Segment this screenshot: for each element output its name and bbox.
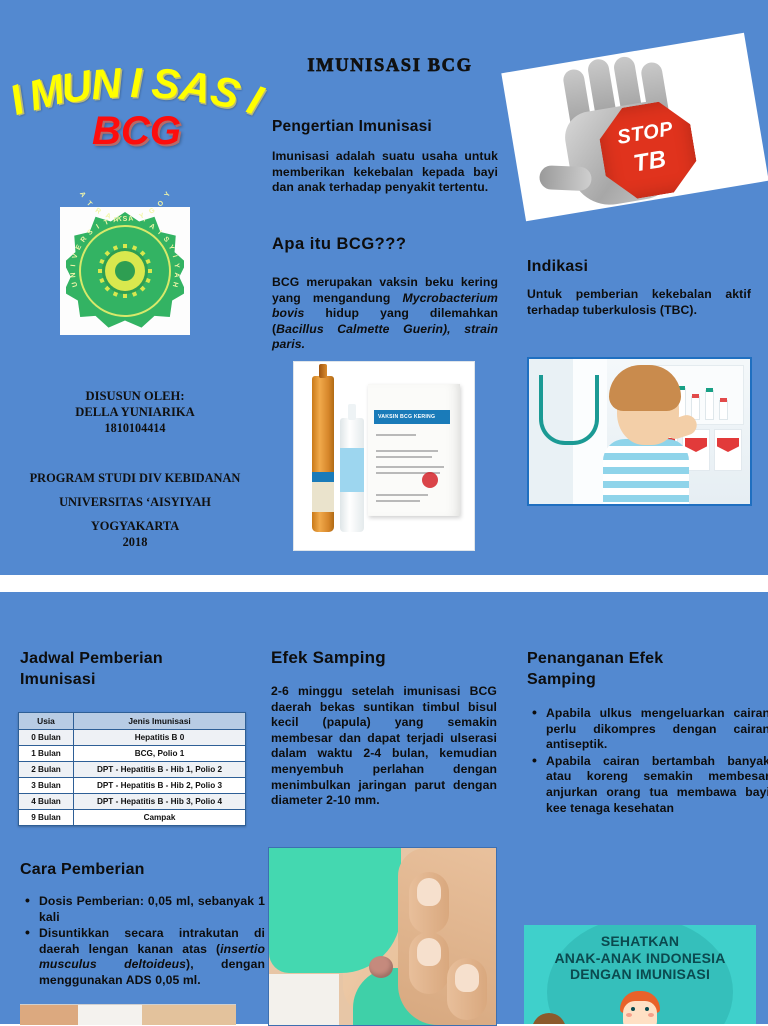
apa-itu-bcg-title: Apa itu BCG??? [272,235,512,254]
institution-line-1: PROGRAM STUDI DIV KEBIDANAN [20,470,250,486]
stethoscope-icon [539,375,599,445]
vaccine-ampoule [312,376,334,532]
table-cell: 1 Bulan [19,746,74,762]
poster-line-3: DENGAN IMUNISASI [524,966,756,983]
table-body: 0 BulanHepatitis B 01 BulanBCG, Polio 12… [19,730,246,826]
indikasi-title: Indikasi [527,257,757,276]
title-letter: I [130,62,142,104]
cover-subtitle-bcg: BCG [14,108,259,154]
penanganan-title-line2: Samping [527,669,757,690]
jadwal-heading-line1: Jadwal Pemberian [20,648,250,669]
penanganan-title-line1: Penanganan Efek [527,648,757,669]
bcg-papule-photo [268,847,497,1026]
table-header-row: UsiaJenis Imunisasi [19,713,246,730]
vaccine-box-label-text: VAKSIN BCG KERING [374,410,450,420]
author-line-1: DISUSUN OLEH: [20,388,250,404]
vaccine-box-label: VAKSIN BCG KERING [374,410,450,424]
partial-bottom-photo [20,1004,236,1025]
author-line-2: DELLA YUNIARIKA [20,404,250,420]
penanganan-bullet-1: Apabila ulkus mengeluarkan cairan perlu … [546,706,768,753]
sehatkan-anak-poster: SEHATKAN ANAK-ANAK INDONESIA DENGAN IMUN… [524,925,756,1024]
poster-child-icon [617,991,663,1024]
doctor-examining-child-photo [527,357,752,506]
poster-line-2: ANAK-ANAK INDONESIA [524,950,756,967]
cara-pemberian-title: Cara Pemberian [20,860,250,879]
table-row: 1 BulanBCG, Polio 1 [19,746,246,762]
cara-pemberian-list: Dosis Pemberian: 0,05 ml, sebanyak 1 kal… [22,894,265,990]
cara-bullet-1: Dosis Pemberian: 0,05 ml, sebanyak 1 kal… [39,894,265,925]
table-cell: DPT - Hepatitis B - Hib 3, Polio 4 [74,794,246,810]
penanganan-bullet-2: Apabila cairan bertambah banyak atau kor… [546,754,768,816]
table-cell: Hepatitis B 0 [74,730,246,746]
table-cell: 4 Bulan [19,794,74,810]
author-line-3: 1810104414 [20,420,250,436]
indikasi-body: Untuk pemberian kekebalan aktif terhadap… [527,287,751,318]
halal-mark-icon [422,472,438,488]
cover-title-arc: IMUNISASI [14,36,259,110]
vaksin-bcg-kering-photo: VAKSIN BCG KERING [293,361,475,551]
table-cell: DPT - Hepatitis B - Hib 1, Polio 2 [74,762,246,778]
table-cell: 0 Bulan [19,730,74,746]
jadwal-heading-line2: Imunisasi [20,669,250,690]
title-letter: S [150,62,181,106]
middle-heading: IMUNISASI BCG [265,56,515,77]
institution-line-2: UNIVERSITAS ‘AISYIYAH [20,494,250,510]
table-row: 4 BulanDPT - Hepatitis B - Hib 3, Polio … [19,794,246,810]
table-cell: Campak [74,810,246,826]
table-cell: DPT - Hepatitis B - Hib 2, Polio 3 [74,778,246,794]
institution-year: 2018 [20,534,250,550]
jadwal-imunisasi-table: UsiaJenis Imunisasi 0 BulanHepatitis B 0… [18,712,246,826]
vaccine-box: VAKSIN BCG KERING [368,384,460,516]
efek-samping-title: Efek Samping [271,648,511,667]
cara-bullet-2: Disuntikkan secara intrakutan di daerah … [39,926,265,988]
institution-line-3: YOGYAKARTA [20,518,250,534]
pengertian-title: Pengertian Imunisasi [272,117,512,136]
table-column-header: Usia [19,713,74,730]
vaccine-diluent-vial [340,418,364,532]
panel-divider [0,575,768,592]
table-row: 3 BulanDPT - Hepatitis B - Hib 2, Polio … [19,778,246,794]
university-logo: UNIVERSITAS 'AISYIYAHYOGYAKARTA [60,207,190,335]
table-cell: 3 Bulan [19,778,74,794]
table-row: 9 BulanCampak [19,810,246,826]
penanganan-list: Apabila ulkus mengeluarkan cairan perlu … [529,706,768,817]
table-cell: BCG, Polio 1 [74,746,246,762]
efek-samping-body: 2-6 minggu setelah imunisasi BCG daerah … [271,684,497,809]
table-cell: 2 Bulan [19,762,74,778]
table-cell: 9 Bulan [19,810,74,826]
table-row: 0 BulanHepatitis B 0 [19,730,246,746]
logo-curved-text: UNIVERSITAS 'AISYIYAHYOGYAKARTA [60,207,190,335]
papule-mark [369,956,393,978]
apa-itu-bcg-body: BCG merupakan vaksin beku kering yang me… [272,275,498,353]
title-letter: N [89,62,123,106]
poster-line-1: SEHATKAN [524,933,756,950]
pengertian-body: Imunisasi adalah suatu usaha untuk membe… [272,149,498,196]
table-column-header: Jenis Imunisasi [74,713,246,730]
table-row: 2 BulanDPT - Hepatitis B - Hib 1, Polio … [19,762,246,778]
